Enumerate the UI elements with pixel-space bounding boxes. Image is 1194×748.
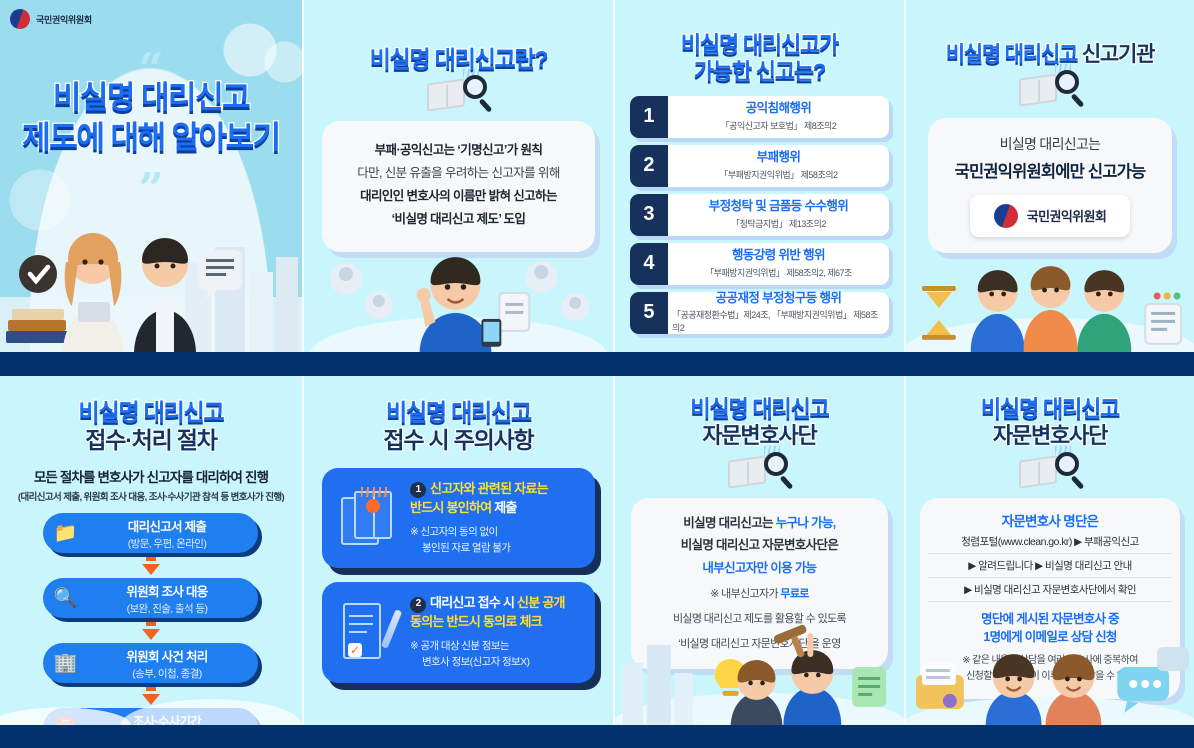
- list-item-title: 부패행위: [757, 150, 801, 166]
- list-item-title: 공공재정 부정청구등 행위: [716, 291, 842, 307]
- list-item-title: 행동강령 위반 행위: [732, 248, 825, 264]
- caution-headline-rest: 제출: [491, 500, 516, 515]
- caution-card[interactable]: ✓ 2대리신고 접수 시 신분 공개 동의는 반드시 동의로 체크 ※ 공개 대…: [322, 582, 595, 682]
- contact-title-line1: 비실명 대리신고: [981, 396, 1119, 421]
- definition-line-3: 대리인인 변호사의 이름만 밝혀 신고하는: [332, 185, 585, 208]
- caution-note-1: ※ 신고자의 동의 없이: [410, 526, 498, 538]
- agency-logo-chip: 국민권익위원회: [970, 195, 1130, 237]
- contact-title-line2: 자문변호사단: [993, 423, 1107, 448]
- list-item[interactable]: 2 부패행위 「부패방지권익위법」 제58조의2: [630, 145, 889, 187]
- agency-title-blue: 비실명 대리신고: [946, 43, 1077, 66]
- definition-illustration: [304, 227, 613, 352]
- advisory-note1-highlight: 무료로: [780, 588, 808, 600]
- magnifier-book-icon: [726, 450, 792, 494]
- reportable-panel: 비실명 대리신고가 가능한 신고는? 1 공익침해행위 「공익신고자 보호법」 …: [615, 0, 904, 352]
- reportable-list: 1 공익침해행위 「공익신고자 보호법」 제8조의2 2 부패행위 「부패방지권…: [630, 96, 889, 334]
- advisory-title-line2: 자문변호사단: [702, 423, 816, 448]
- caution-headline-2: 동의는 반드시 동의로 체크: [410, 614, 542, 629]
- cautions-panel: 비실명 대리신고 접수 시 주의사항 1신고자와 관련된 자료는 반드시 봉인하…: [304, 376, 613, 725]
- list-item-number: 4: [630, 243, 668, 285]
- definition-line-1: 부패·공익신고는 ‘기명신고’가 원칙: [332, 139, 585, 162]
- folder-document-icon: 📁: [43, 521, 87, 545]
- contact-path-step[interactable]: ▶ 알려드립니다 ▶ 비실명 대리신고 안내: [928, 554, 1172, 578]
- list-item[interactable]: 3 부정청탁 및 금품등 수수행위 「청탁금지법」 제13조의2: [630, 194, 889, 236]
- arrow-down-icon: [142, 629, 160, 640]
- hero-panel: 국민권익위원회 “ 비실명 대리신고 제도에 대해 알아보기 ”: [0, 0, 302, 352]
- reportable-title-line2: 가능한 신고는?: [694, 59, 825, 84]
- list-item-law: 「공공재정환수법」제24조, 「부패방지권익위법」 제58조의2: [672, 308, 885, 334]
- procedure-step-title: 대리신고서 제출: [87, 516, 246, 535]
- advisory-note1-pre: ※ 내부신고자가: [710, 588, 780, 600]
- advisory-line1-highlight: 누구나 가능,: [776, 516, 836, 530]
- gov-logo-label: 국민권익위원회: [36, 13, 92, 26]
- definition-title: 비실명 대리신고란?: [304, 45, 613, 73]
- hero-title-line2: 제도에 대해 알아보기: [0, 118, 302, 158]
- advisory-title: 비실명 대리신고 자문변호사단: [615, 396, 904, 450]
- contact-title: 비실명 대리신고 자문변호사단: [906, 396, 1194, 450]
- arrow-down-icon: [142, 564, 160, 575]
- list-item[interactable]: 1 공익침해행위 「공익신고자 보호법」 제8조의2: [630, 96, 889, 138]
- form-pen-check-icon: ✓: [328, 594, 410, 670]
- taegeuk-icon: [10, 9, 30, 29]
- agency-line-1: 비실명 대리신고는: [938, 134, 1162, 154]
- gov-logo: 국민권익위원회: [10, 9, 92, 29]
- procedure-step-title: 위원회 조사 대응: [87, 581, 246, 600]
- contact-path-step[interactable]: ▶ 비실명 대리신고 자문변호사단에서 확인: [928, 578, 1172, 602]
- procedure-title-line2: 접수·처리 절차: [85, 427, 216, 453]
- contact-apply-line1: 명단에 게시된 자문변호사 중: [981, 612, 1119, 626]
- list-item-number: 5: [630, 292, 668, 334]
- agency-line-2: 국민권익위원회에만 신고가능: [938, 158, 1162, 182]
- advisory-line3: 내부신고자만 이용 가능: [639, 557, 880, 580]
- sealed-documents-icon: [328, 480, 410, 556]
- caution-card[interactable]: 1신고자와 관련된 자료는 반드시 봉인하여 제출 ※ 신고자의 동의 없이 봉…: [322, 468, 595, 568]
- cautions-title-line1: 비실명 대리신고: [386, 399, 531, 425]
- caution-note-2: 봉인된 자료 열람 불가: [410, 540, 585, 556]
- agency-title: 비실명 대리신고 신고기관: [906, 42, 1194, 68]
- hero-illustration: [0, 202, 302, 352]
- list-item-number: 1: [630, 96, 668, 138]
- list-item-number: 3: [630, 194, 668, 236]
- list-item-law: 「부패방지권익위법」 제58조의2, 제67조: [705, 266, 852, 279]
- advisory-panel: 비실명 대리신고 자문변호사단 비실명 대리신고는 누구나 가능, 비실명 대리…: [615, 376, 904, 725]
- procedure-step-title: 위원회 사건 처리: [87, 646, 246, 665]
- agency-panel: 비실명 대리신고 신고기관 비실명 대리신고는 국민권익위원회에만 신고가능 국…: [906, 0, 1194, 352]
- magnifier-report-icon: 🔍: [43, 586, 87, 610]
- section-divider-band: [0, 352, 1194, 376]
- list-item-title: 공익침해행위: [746, 101, 811, 117]
- definition-line-2: 다만, 신분 유출을 우려하는 신고자를 위해: [332, 162, 585, 185]
- contact-panel: 비실명 대리신고 자문변호사단 자문변호사 명단은 청렴포털(www.clean…: [906, 376, 1194, 725]
- magnifier-book-icon: [425, 73, 491, 117]
- contact-heading: 자문변호사 명단은: [928, 510, 1172, 530]
- hero-title-line1: 비실명 대리신고: [53, 80, 249, 115]
- cautions-title-line2: 접수 시 주의사항: [383, 427, 533, 453]
- caution-badge: 2: [410, 597, 426, 613]
- footer-band: [0, 725, 1194, 748]
- list-item[interactable]: 5 공공재정 부정청구등 행위 「공공재정환수법」제24조, 「부패방지권익위법…: [630, 292, 889, 334]
- cautions-title: 비실명 대리신고 접수 시 주의사항: [304, 398, 613, 454]
- procedure-sub: (대리신고서 제출, 위원회 조사 대응, 조사·수사기관 참석 등 변호사가 …: [0, 489, 302, 503]
- reportable-title: 비실명 대리신고가 가능한 신고는?: [615, 32, 904, 86]
- procedure-lead: 모든 절차를 변호사가 신고자를 대리하여 진행: [0, 466, 302, 486]
- caution-headline-2: 반드시 봉인하여: [410, 500, 491, 515]
- advisory-line2: 비실명 대리신고 자문변호사단은: [639, 534, 880, 557]
- advisory-line1-pre: 비실명 대리신고는: [683, 516, 775, 530]
- page-title: 비실명 대리신고 제도에 대해 알아보기: [0, 78, 302, 159]
- top-section: 국민권익위원회 “ 비실명 대리신고 제도에 대해 알아보기 ”: [0, 0, 1194, 352]
- list-item-law: 「부패방지권익위법」 제58조의2: [719, 168, 837, 181]
- list-item-number: 2: [630, 145, 668, 187]
- list-item-law: 「청탁금지법」 제13조의2: [731, 217, 826, 230]
- caution-note-2: 변호사 정보(신고자 정보X): [410, 654, 585, 670]
- reportable-title-line1: 비실명 대리신고가: [681, 32, 838, 57]
- contact-path-step[interactable]: 청렴포털(www.clean.go.kr) ▶ 부패공익신고: [928, 530, 1172, 554]
- caution-badge: 1: [410, 482, 426, 498]
- procedure-step[interactable]: 🔍 위원회 조사 대응 (보완, 진술, 출석 등): [43, 578, 258, 618]
- caution-note-1: ※ 공개 대상 신분 정보는: [410, 640, 509, 652]
- procedure-step-sub: (보완, 진술, 출석 등): [87, 601, 246, 616]
- contact-illustration: [906, 625, 1194, 725]
- procedure-title: 비실명 대리신고 접수·처리 절차: [0, 398, 302, 454]
- definition-panel: 비실명 대리신고란? 부패·공익신고는 ‘기명신고’가 원칙 다만, 신분 유출…: [304, 0, 613, 352]
- procedure-panel: 비실명 대리신고 접수·처리 절차 모든 절차를 변호사가 신고자를 대리하여 …: [0, 376, 302, 725]
- advisory-title-line1: 비실명 대리신고: [690, 396, 828, 421]
- agency-logo-label: 국민권익위원회: [1027, 206, 1107, 225]
- advisory-illustration: [615, 615, 904, 725]
- procedure-step-sub: (방문, 우편, 온라인): [87, 536, 246, 551]
- procedure-title-line1: 비실명 대리신고: [79, 399, 224, 425]
- bottom-section: 비실명 대리신고 접수·처리 절차 모든 절차를 변호사가 신고자를 대리하여 …: [0, 376, 1194, 725]
- cloud-decoration: [0, 665, 302, 725]
- list-item[interactable]: 4 행동강령 위반 행위 「부패방지권익위법」 제58조의2, 제67조: [630, 243, 889, 285]
- taegeuk-icon: [994, 204, 1018, 228]
- list-item-title: 부정청탁 및 금품등 수수행위: [709, 199, 848, 215]
- magnifier-book-icon: [1017, 68, 1083, 112]
- caution-headline-1: 신고자와 관련된 자료는: [430, 481, 548, 496]
- magnifier-book-icon: [1017, 450, 1083, 494]
- list-item-law: 「공익신고자 보호법」 제8조의2: [721, 119, 837, 132]
- caution-headline-1: 신분 공개: [517, 595, 565, 610]
- procedure-step[interactable]: 📁 대리신고서 제출 (방문, 우편, 온라인): [43, 513, 258, 553]
- agency-title-navy: 신고기관: [1082, 43, 1154, 66]
- infographic-page: 국민권익위원회 “ 비실명 대리신고 제도에 대해 알아보기 ”: [0, 0, 1194, 748]
- agency-illustration: [906, 232, 1194, 352]
- caution-headline-pre: 대리신고 접수 시: [430, 595, 517, 610]
